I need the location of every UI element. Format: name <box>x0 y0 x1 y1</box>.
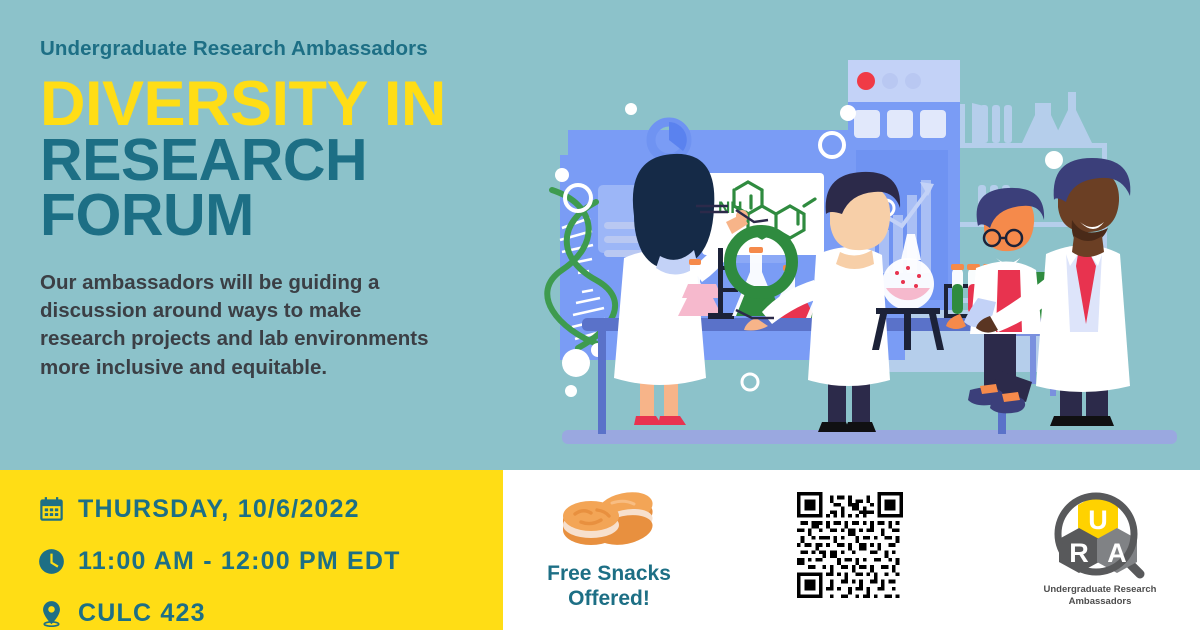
logo-caption-line-1: Undergraduate Research <box>1020 584 1180 596</box>
event-detail-location: CULC 423 <box>38 591 498 630</box>
event-details-list: Thursday, 10/6/2022 11:00 AM - 12:00 PM … <box>38 487 498 630</box>
qr-code-icon[interactable] <box>797 492 903 598</box>
free-snacks-text: Free Snacks Offered! <box>524 562 694 612</box>
title-line-3: FORUM <box>40 188 520 243</box>
event-date-text: Thursday, 10/6/2022 <box>78 497 360 522</box>
logo-caption-line-2: Ambassadors <box>1020 596 1180 608</box>
clock-icon <box>38 546 78 576</box>
description-line-4: more inclusive and equitable. <box>40 354 505 382</box>
description-line-3: research projects and lab environments <box>40 325 505 353</box>
page-title: DIVERSITY IN RESEARCH FORUM <box>40 75 520 243</box>
event-detail-time: 11:00 AM - 12:00 PM EDT <box>38 539 498 583</box>
description-line-2: discussion around ways to make <box>40 297 505 325</box>
ura-logo-caption: Undergraduate Research Ambassadors <box>1020 584 1180 608</box>
logo-letter-r: R <box>1069 538 1089 568</box>
poster-top-section: Undergraduate Research Ambassadors DIVER… <box>0 0 1200 470</box>
kicker-text: Undergraduate Research Ambassadors <box>40 38 520 61</box>
headline-block: Undergraduate Research Ambassadors DIVER… <box>40 38 520 382</box>
snacks-line-2: Offered! <box>524 587 694 612</box>
snacks-line-1: Free Snacks <box>524 562 694 587</box>
event-detail-date: Thursday, 10/6/2022 <box>38 487 498 531</box>
ura-logo: U R A Undergraduate Research Ambassadors <box>1020 490 1180 608</box>
logo-letter-u: U <box>1088 505 1108 535</box>
lab-illustration: NH 3 <box>540 30 1200 470</box>
description-text: Our ambassadors will be guiding a discus… <box>40 269 505 382</box>
cookies-icon <box>524 490 694 552</box>
location-pin-icon <box>38 598 78 628</box>
description-line-1: Our ambassadors will be guiding a <box>40 269 505 297</box>
event-location-text: CULC 423 <box>78 601 206 626</box>
poster-canvas: Undergraduate Research Ambassadors DIVER… <box>0 0 1200 630</box>
free-snacks-block: Free Snacks Offered! <box>524 490 694 612</box>
title-line-1: DIVERSITY IN <box>40 75 520 134</box>
event-time-text: 11:00 AM - 12:00 PM EDT <box>78 549 401 574</box>
title-line-2: RESEARCH <box>40 133 520 188</box>
logo-letter-a: A <box>1107 538 1127 568</box>
ura-magnifier-logo-icon: U R A <box>1020 490 1180 582</box>
calendar-icon <box>38 494 78 524</box>
